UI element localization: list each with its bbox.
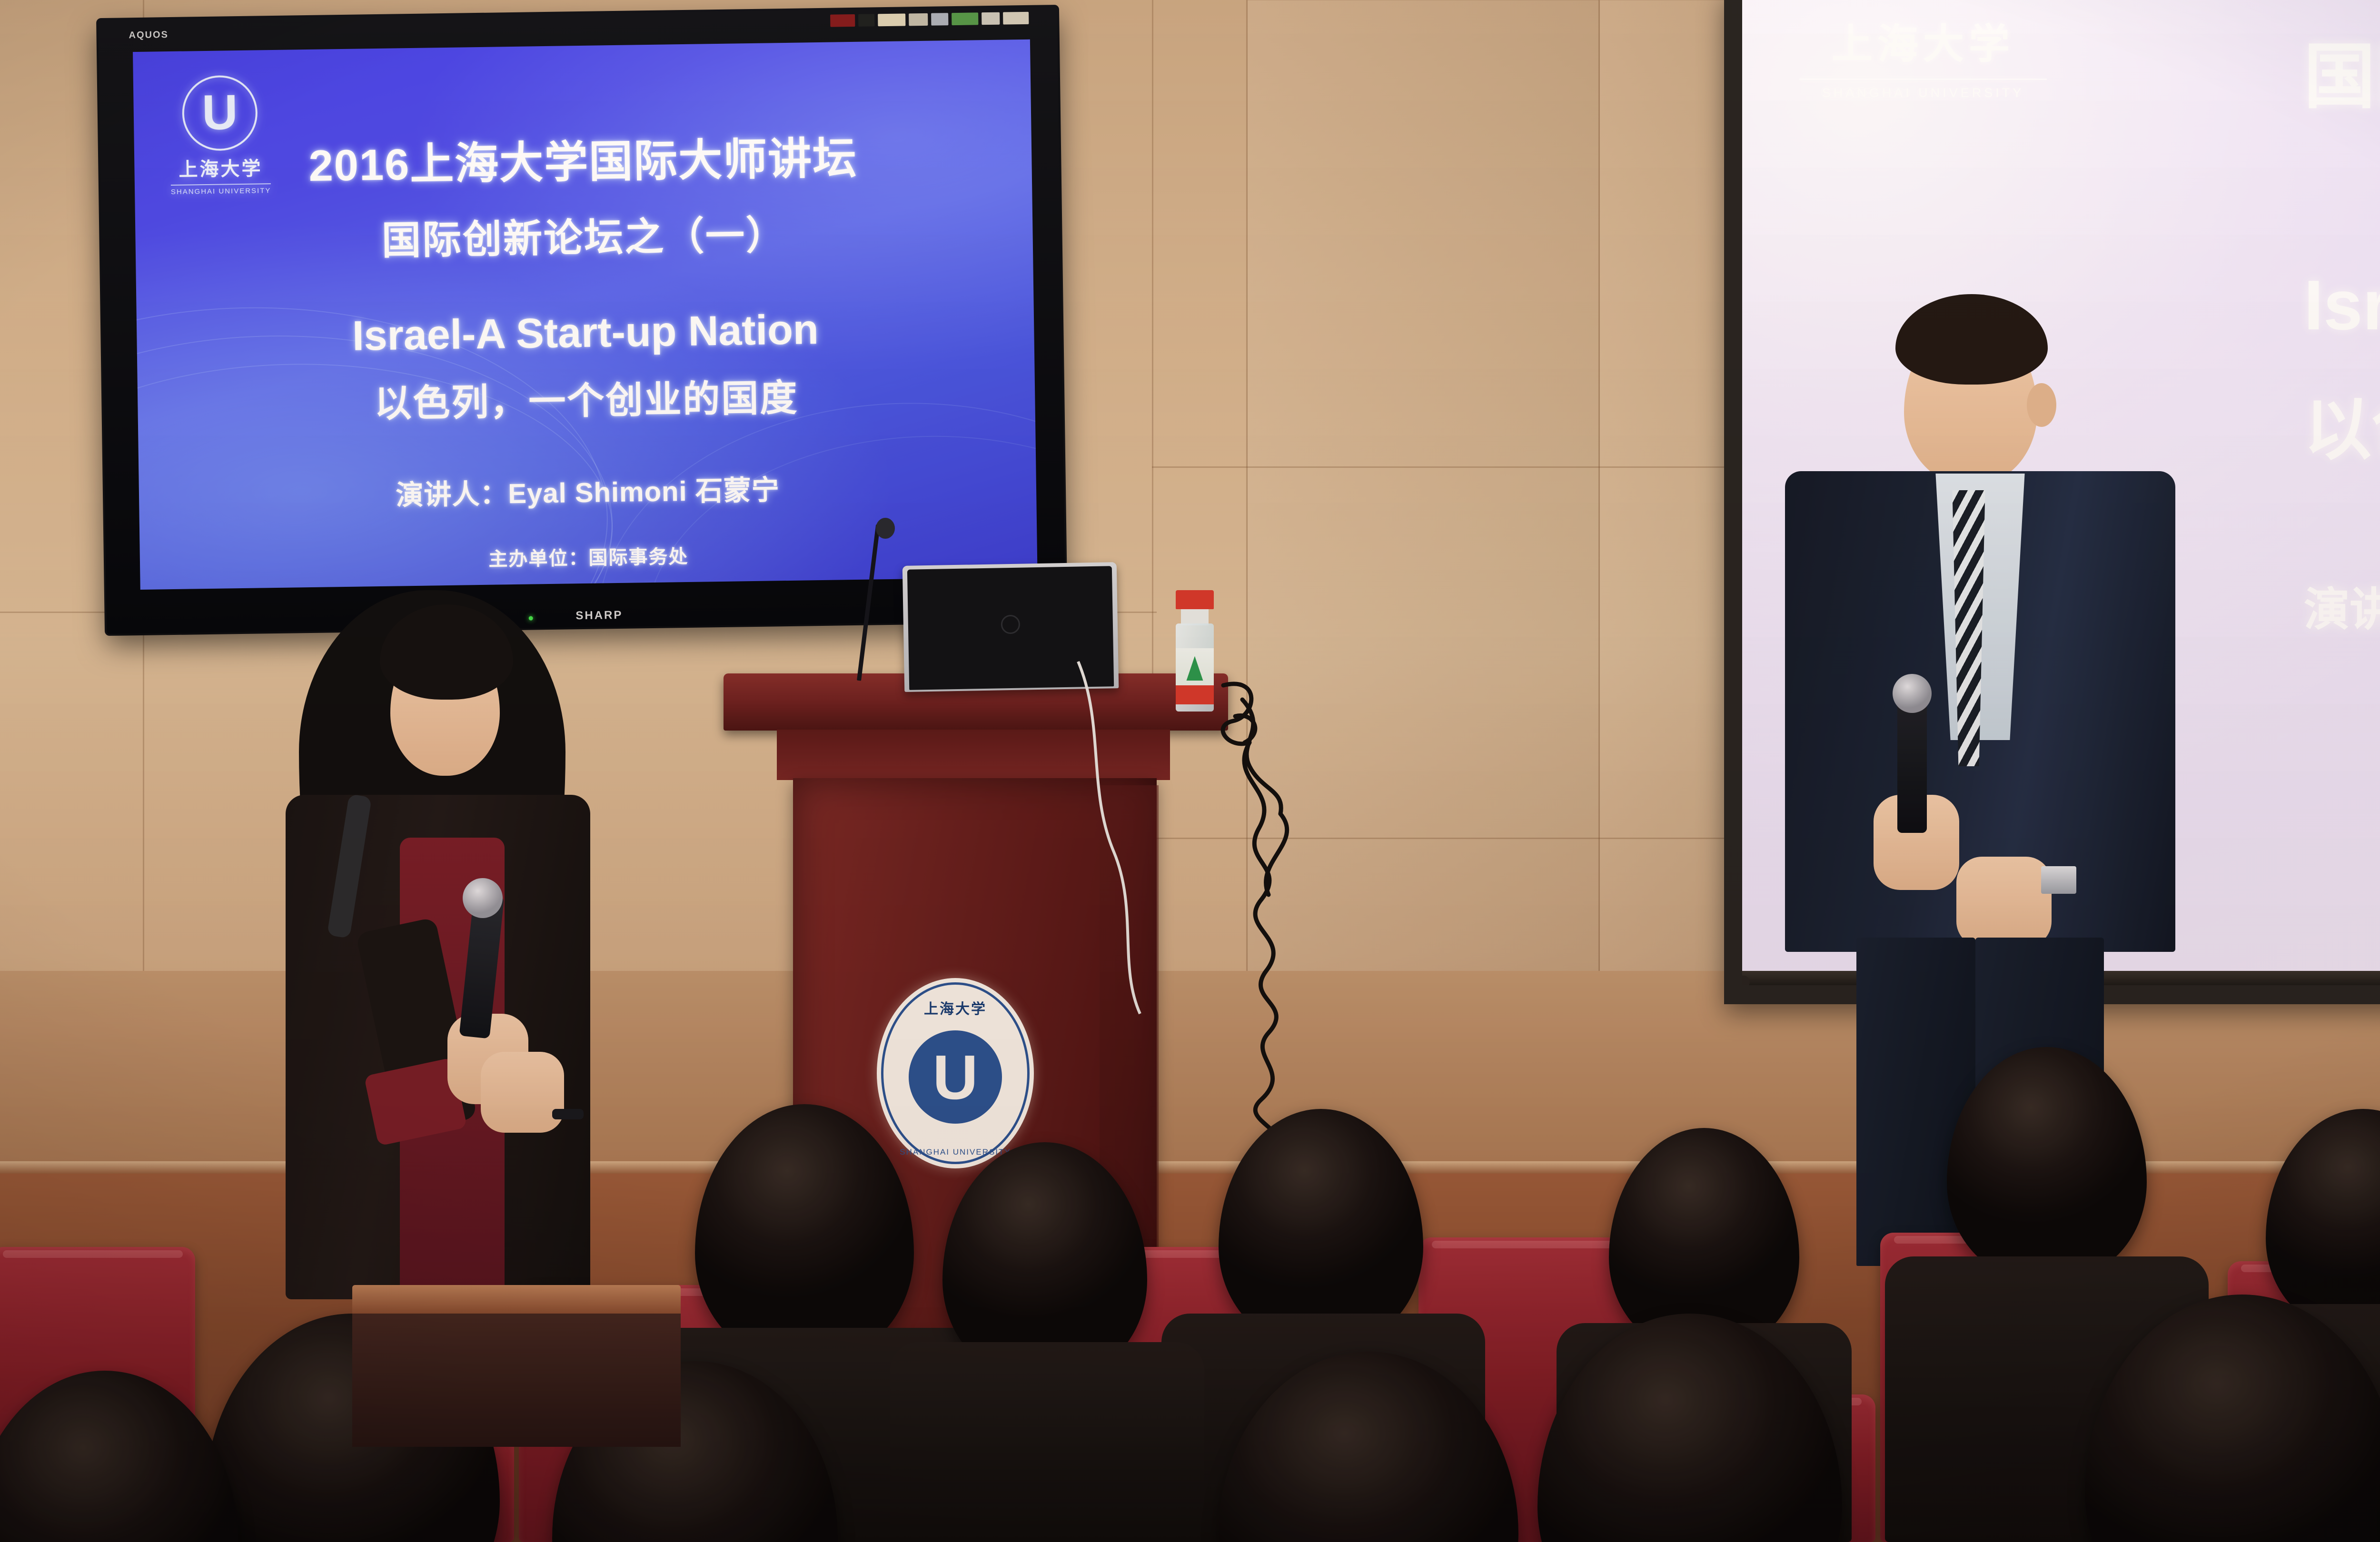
water-bottle [1176,590,1214,712]
speaker-hair [1895,294,2048,385]
seal-cn-text: 上海大学 [924,997,987,1018]
host-microphone-head-icon [463,878,503,918]
slide-title-line1: 2016上海大学国际大师讲坛 [134,120,1032,196]
projection-line-cn2: 以色列， [2304,375,2380,473]
front-table-top [352,1314,681,1447]
speaker-microphone-head-icon [1893,674,1932,713]
presentation-slide: U 上海大学 SHANGHAI UNIVERSITY 2016上海大学国际大师讲… [133,40,1038,590]
projection-text-block: 国际创 Israel-A 以色列， 演讲人 [2304,19,2380,639]
lectern-university-seal: 上海大学 U SHANGHAI UNIVERSITY [877,978,1034,1168]
speaker-ear [2027,383,2056,427]
tv-brand-aquos: AQUOS [129,30,169,41]
audience-body [890,1342,1204,1542]
wall-seam [1152,838,1756,839]
projection-line-cn: 国际创 [2304,19,2380,122]
bottle-neck [1181,609,1209,625]
podium-microphone-head-icon [876,518,895,539]
slide-title-line2: 国际创新论坛之（一） [135,200,1033,269]
sharp-television: AQUOS U 上海大学 SHANGHAI UNIVERSITY 2016上海大… [98,7,1066,634]
projection-university-logo: 上海大学 SHANGHAI UNIVERSITY [1799,10,2047,100]
lecture-hall-photo: AQUOS U 上海大学 SHANGHAI UNIVERSITY 2016上海大… [0,0,2380,1542]
slide-subject-cn: 以色列，一个创业的国度 [138,365,1035,431]
bottle-body [1176,623,1214,712]
seal-en-text: SHANGHAI UNIVERSITY [900,1147,1011,1157]
dell-laptop [902,562,1119,692]
lectern-neck [777,730,1170,780]
bottle-cap [1176,590,1214,609]
projection-line-speaker: 演讲人 [2304,573,2380,639]
bottle-label-mountain-icon [1186,656,1203,681]
wall-seam [1152,466,1756,468]
bottle-label [1176,648,1214,704]
projection-logo-en: SHANGHAI UNIVERSITY [1799,79,2047,100]
speaker-hand-right [1956,857,2052,947]
emblem-letter: U [202,93,238,133]
host-hand-2 [481,1052,564,1133]
slide-subject-en: Israel-A Start-up Nation [137,302,1034,363]
host-person [257,571,628,1299]
slide-text-block: 2016上海大学国际大师讲坛 国际创新论坛之（一） Israel-A Start… [134,120,1037,590]
projection-line-en: Israel-A [2304,265,2380,346]
host-wrist-bracelet [552,1109,584,1119]
slide-speaker: 演讲人：Eyal Shimoni 石蒙宁 [139,464,1036,516]
bottle-label-band [1176,685,1214,704]
projection-logo-cn: 上海大学 [1799,10,2047,70]
speaker-wristwatch [2041,866,2076,894]
